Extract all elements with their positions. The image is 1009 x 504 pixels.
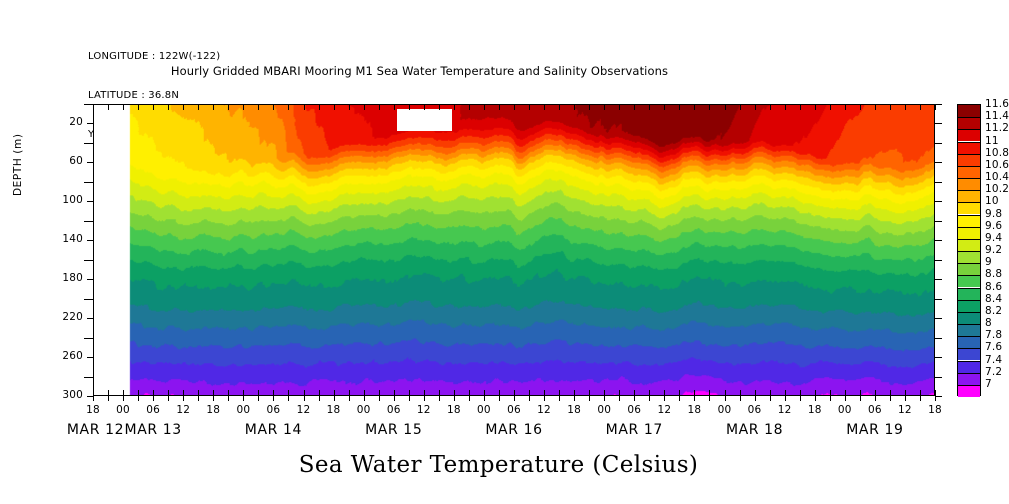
tick-mark	[153, 396, 154, 401]
x-axis-date-label: MAR 17	[574, 422, 694, 438]
tick-mark	[935, 396, 942, 397]
tick-mark	[87, 201, 93, 202]
tick-mark	[123, 104, 124, 110]
tick-mark	[649, 104, 650, 110]
colorbar-band	[958, 190, 980, 202]
colorbar-tick-label: 9.2	[985, 244, 1002, 256]
tick-mark	[740, 396, 741, 401]
x-axis-hour-label: 18	[437, 404, 471, 416]
y-axis-tick-label: 180	[37, 272, 83, 284]
tick-mark	[183, 396, 184, 401]
colorbar-tick-label: 7.8	[985, 329, 1002, 341]
tick-mark	[725, 396, 726, 401]
colorbar-tick-label: 8.6	[985, 281, 1002, 293]
tick-mark	[544, 104, 545, 110]
data-gap-region	[397, 109, 452, 132]
tick-mark	[334, 104, 335, 110]
tick-mark	[725, 104, 726, 110]
colorbar-tick-label: 8.4	[985, 293, 1002, 305]
tick-mark	[84, 104, 93, 105]
x-axis-date-label: MAR 19	[815, 422, 935, 438]
colorbar-band	[958, 336, 980, 348]
tick-mark	[935, 357, 942, 358]
tick-mark	[694, 104, 695, 110]
tick-mark	[499, 396, 500, 401]
tick-mark	[935, 221, 942, 222]
tick-mark	[439, 396, 440, 401]
colorbar-tick-label: 11.4	[985, 110, 1009, 122]
tick-mark	[469, 104, 470, 110]
longitude-label: LONGITUDE : 122W(-122)	[88, 50, 220, 63]
tick-mark	[920, 104, 921, 110]
tick-mark	[273, 104, 274, 110]
tick-mark	[379, 104, 380, 110]
tick-mark	[454, 104, 455, 110]
x-axis-date-label: MAR 14	[213, 422, 333, 438]
tick-mark	[935, 240, 942, 241]
y-axis-tick-label: 60	[37, 155, 83, 167]
tick-mark	[830, 104, 831, 110]
tick-mark	[619, 396, 620, 401]
tick-mark	[589, 396, 590, 401]
tick-mark	[559, 396, 560, 401]
tick-mark	[108, 396, 109, 401]
tick-mark	[935, 162, 942, 163]
tick-mark	[258, 396, 259, 401]
tick-mark	[845, 104, 846, 110]
bottom-title: Sea Water Temperature (Celsius)	[0, 452, 1009, 478]
tick-mark	[258, 104, 259, 110]
colorbar-tick-label: 9.8	[985, 208, 1002, 220]
x-axis-date-label: MAR 18	[695, 422, 815, 438]
tick-mark	[574, 396, 575, 401]
x-axis-hour-label: 00	[587, 404, 621, 416]
tick-mark	[469, 396, 470, 401]
colorbar-tick-label: 7.6	[985, 341, 1002, 353]
x-axis-hour-label: 06	[617, 404, 651, 416]
colorbar-tick-label: 10.4	[985, 171, 1009, 183]
tick-mark	[84, 182, 93, 183]
colorbar-tick-label: 7	[985, 378, 992, 390]
colorbar-band	[958, 251, 980, 263]
colorbar-band	[958, 215, 980, 227]
tick-mark	[87, 357, 93, 358]
colorbar-band	[958, 275, 980, 287]
tick-mark	[905, 104, 906, 110]
x-axis-hour-label: 06	[377, 404, 411, 416]
colorbar-tick-label: 10.2	[985, 183, 1009, 195]
x-axis-hour-label: 18	[196, 404, 230, 416]
tick-mark	[935, 182, 942, 183]
tick-mark	[514, 104, 515, 110]
x-axis-hour-label: 12	[768, 404, 802, 416]
colorbar-band	[958, 324, 980, 336]
tick-mark	[454, 396, 455, 401]
x-axis-date-label: MAR 15	[334, 422, 454, 438]
tick-mark	[379, 396, 380, 401]
colorbar-band	[958, 129, 980, 141]
tick-mark	[529, 104, 530, 110]
colorbar-band	[958, 300, 980, 312]
tick-mark	[815, 104, 816, 110]
y-axis-title: DEPTH (m)	[12, 133, 24, 196]
colorbar-tick-label: 8.8	[985, 268, 1002, 280]
tick-mark	[679, 396, 680, 401]
tick-mark	[514, 396, 515, 401]
tick-mark	[709, 104, 710, 110]
tick-mark	[349, 104, 350, 110]
x-axis-hour-label: 18	[557, 404, 591, 416]
colorbar	[957, 104, 981, 396]
tick-mark	[785, 104, 786, 110]
tick-mark	[424, 396, 425, 401]
tick-mark	[364, 396, 365, 401]
tick-mark	[87, 123, 93, 124]
tick-mark	[920, 396, 921, 401]
tick-mark	[935, 104, 942, 105]
x-axis-hour-label: 18	[798, 404, 832, 416]
y-axis-tick-label: 20	[37, 116, 83, 128]
tick-mark	[84, 221, 93, 222]
colorbar-band	[958, 105, 980, 117]
tick-mark	[87, 396, 93, 397]
tick-mark	[905, 396, 906, 401]
tick-mark	[935, 377, 942, 378]
tick-mark	[935, 260, 942, 261]
colorbar-band	[958, 227, 980, 239]
x-axis-hour-label: 18	[76, 404, 110, 416]
y-axis-tick-label: 300	[37, 389, 83, 401]
tick-mark	[394, 396, 395, 401]
x-axis-hour-label: 00	[708, 404, 742, 416]
tick-mark	[349, 396, 350, 401]
tick-mark	[634, 396, 635, 401]
y-axis-tick-label: 220	[37, 311, 83, 323]
colorbar-band	[958, 239, 980, 251]
x-axis-hour-label: 00	[467, 404, 501, 416]
chart-title: Hourly Gridded MBARI Mooring M1 Sea Wate…	[0, 64, 1009, 78]
latitude-label: LATITUDE : 36.8N	[88, 89, 220, 102]
tick-mark	[574, 104, 575, 110]
x-axis-hour-label: 12	[407, 404, 441, 416]
tick-mark	[815, 396, 816, 401]
tick-mark	[755, 396, 756, 401]
tick-mark	[288, 104, 289, 110]
x-axis-hour-label: 18	[317, 404, 351, 416]
colorbar-tick-label: 8.2	[985, 305, 1002, 317]
colorbar-tick-label: 8	[985, 317, 992, 329]
x-axis-hour-label: 12	[287, 404, 321, 416]
tick-mark	[604, 104, 605, 110]
x-axis-date-label: MAR 13	[93, 422, 213, 438]
tick-mark	[319, 104, 320, 110]
x-axis-hour-label: 06	[136, 404, 170, 416]
tick-mark	[890, 104, 891, 110]
tick-mark	[845, 396, 846, 401]
tick-mark	[935, 279, 942, 280]
tick-mark	[138, 396, 139, 401]
tick-mark	[198, 396, 199, 401]
tick-mark	[694, 396, 695, 401]
x-axis-hour-label: 12	[647, 404, 681, 416]
tick-mark	[93, 396, 94, 401]
tick-mark	[800, 104, 801, 110]
x-axis-hour-label: 12	[166, 404, 200, 416]
y-axis-tick-label: 100	[37, 194, 83, 206]
colorbar-tick-label: 11	[985, 135, 999, 147]
tick-mark	[87, 279, 93, 280]
chart-title-text: Hourly Gridded MBARI Mooring M1 Sea Wate…	[171, 64, 668, 78]
tick-mark	[183, 104, 184, 110]
tick-mark	[649, 396, 650, 401]
tick-mark	[168, 396, 169, 401]
tick-mark	[890, 396, 891, 401]
colorbar-band	[958, 178, 980, 190]
x-axis-hour-label: 06	[858, 404, 892, 416]
tick-mark	[84, 143, 93, 144]
colorbar-tick-label: 10.8	[985, 147, 1009, 159]
tick-mark	[439, 104, 440, 110]
tick-mark	[860, 396, 861, 401]
tick-mark	[273, 396, 274, 401]
tick-mark	[87, 162, 93, 163]
tick-mark	[830, 396, 831, 401]
tick-mark	[168, 104, 169, 110]
tick-mark	[213, 396, 214, 401]
tick-mark	[935, 338, 942, 339]
x-axis-hour-label: 00	[828, 404, 862, 416]
tick-mark	[770, 104, 771, 110]
x-axis-hour-label: 18	[677, 404, 711, 416]
tick-mark	[664, 104, 665, 110]
tick-mark	[87, 318, 93, 319]
colorbar-band	[958, 373, 980, 385]
tick-mark	[84, 338, 93, 339]
tick-mark	[604, 396, 605, 401]
colorbar-tick-label: 9.6	[985, 220, 1002, 232]
tick-mark	[409, 396, 410, 401]
colorbar-band	[958, 117, 980, 129]
tick-mark	[935, 201, 942, 202]
x-axis-hour-label: 00	[347, 404, 381, 416]
x-axis-date-label: MAR 16	[454, 422, 574, 438]
tick-mark	[288, 396, 289, 401]
tick-mark	[484, 104, 485, 110]
tick-mark	[935, 143, 942, 144]
colorbar-band	[958, 288, 980, 300]
colorbar-band	[958, 154, 980, 166]
x-axis-hour-label: 00	[106, 404, 140, 416]
tick-mark	[304, 396, 305, 401]
tick-mark	[108, 104, 109, 110]
tick-mark	[875, 396, 876, 401]
colorbar-band	[958, 385, 980, 397]
tick-mark	[304, 104, 305, 110]
tick-mark	[664, 396, 665, 401]
colorbar-tick-label: 9.4	[985, 232, 1002, 244]
tick-mark	[589, 104, 590, 110]
colorbar-band	[958, 348, 980, 360]
tick-mark	[84, 377, 93, 378]
colorbar-band	[958, 263, 980, 275]
tick-mark	[740, 104, 741, 110]
x-axis-hour-label: 06	[738, 404, 772, 416]
colorbar-tick-label: 10.6	[985, 159, 1009, 171]
tick-mark	[709, 396, 710, 401]
tick-mark	[935, 318, 942, 319]
tick-mark	[138, 104, 139, 110]
tick-mark	[800, 396, 801, 401]
tick-mark	[875, 104, 876, 110]
tick-mark	[84, 260, 93, 261]
tick-mark	[484, 396, 485, 401]
x-axis-hour-label: 06	[497, 404, 531, 416]
x-axis-hour-label: 12	[888, 404, 922, 416]
tick-mark	[529, 396, 530, 401]
tick-mark	[334, 396, 335, 401]
colorbar-tick-label: 11.2	[985, 122, 1009, 134]
tick-mark	[935, 123, 942, 124]
x-axis-hour-label: 18	[918, 404, 952, 416]
x-axis-hour-label: 12	[527, 404, 561, 416]
tick-mark	[243, 104, 244, 110]
tick-mark	[243, 396, 244, 401]
tick-mark	[228, 396, 229, 401]
tick-mark	[935, 299, 942, 300]
tick-mark	[228, 104, 229, 110]
tick-mark	[559, 104, 560, 110]
colorbar-tick-label: 11.6	[985, 98, 1009, 110]
colorbar-band	[958, 166, 980, 178]
tick-mark	[364, 104, 365, 110]
tick-mark	[619, 104, 620, 110]
colorbar-tick-label: 7.2	[985, 366, 1002, 378]
contour-plot-area	[93, 104, 935, 396]
tick-mark	[634, 104, 635, 110]
tick-mark	[84, 299, 93, 300]
tick-mark	[755, 104, 756, 110]
tick-mark	[860, 104, 861, 110]
colorbar-band	[958, 312, 980, 324]
chart-page: LONGITUDE : 122W(-122) LATITUDE : 36.8N …	[0, 0, 1009, 504]
tick-mark	[213, 104, 214, 110]
temperature-contour-field	[94, 105, 934, 395]
colorbar-band	[958, 142, 980, 154]
tick-mark	[424, 104, 425, 110]
tick-mark	[153, 104, 154, 110]
x-axis-hour-label: 06	[256, 404, 290, 416]
tick-mark	[785, 396, 786, 401]
tick-mark	[770, 396, 771, 401]
colorbar-tick-label: 10	[985, 195, 999, 207]
tick-mark	[87, 240, 93, 241]
colorbar-tick-label: 9	[985, 256, 992, 268]
tick-mark	[123, 396, 124, 401]
bottom-title-text: Sea Water Temperature (Celsius)	[299, 452, 699, 478]
y-axis-tick-label: 260	[37, 350, 83, 362]
tick-mark	[394, 104, 395, 110]
y-axis-tick-label: 140	[37, 233, 83, 245]
tick-mark	[198, 104, 199, 110]
tick-mark	[499, 104, 500, 110]
x-axis-hour-label: 00	[226, 404, 260, 416]
tick-mark	[93, 104, 94, 110]
tick-mark	[679, 104, 680, 110]
tick-mark	[409, 104, 410, 110]
tick-mark	[319, 396, 320, 401]
colorbar-tick-label: 7.4	[985, 354, 1002, 366]
colorbar-band	[958, 361, 980, 373]
colorbar-band	[958, 202, 980, 214]
tick-mark	[544, 396, 545, 401]
